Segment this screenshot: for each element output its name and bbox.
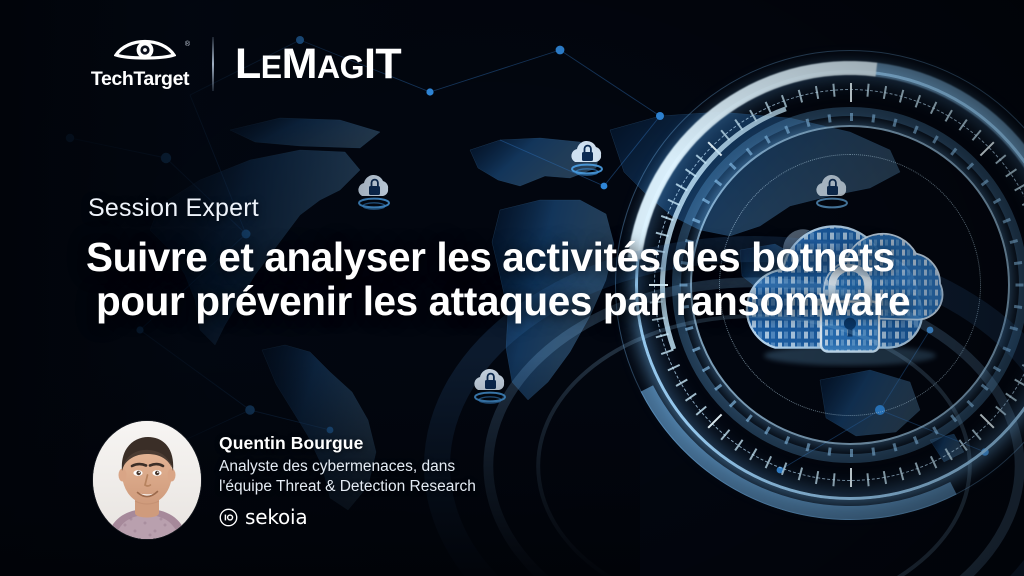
title-line-1: Suivre et analyser les activités des bot… [86,234,895,280]
speaker-name: Quentin Bourgue [219,433,476,454]
lemagit-letter-1: E [261,51,282,83]
title-line-2: pour prévenir les attaques par ransomwar… [86,280,986,324]
techtarget-wordmark: TechTarget [84,68,196,91]
lemagit-letter-5: I [364,43,375,86]
speaker-block: Quentin Bourgue Analyste des cybermenace… [93,421,476,539]
lemagit-letter-3: A [317,51,340,83]
speaker-role-line-2: l'équipe Threat & Detection Research [219,477,476,497]
session-kicker: Session Expert [88,194,259,223]
sekoia-logo: sekoia [219,505,476,529]
lemagit-letter-2: M [282,43,317,86]
io-circle-icon [219,508,238,527]
lemagit-logo: LEMAGIT [235,43,401,86]
speaker-role-line-1: Analyste des cybermenaces, dans [219,457,476,477]
lemagit-letter-6: T [375,43,401,86]
webinar-title-slide: ® TechTarget LEMAGIT Session Expert Suiv… [0,0,1024,576]
page-title: Suivre et analyser les activités des bot… [86,236,986,323]
registered-mark: ® [185,41,190,48]
avatar [93,421,201,539]
techtarget-logo: ® TechTarget [84,35,196,93]
sekoia-wordmark: sekoia [245,505,307,529]
speaker-role: Analyste des cybermenaces, dans l'équipe… [219,457,476,496]
eye-icon [114,35,176,61]
brand-logo-bar: ® TechTarget LEMAGIT [84,33,401,95]
lemagit-letter-4: G [340,51,364,83]
logo-divider [212,37,214,91]
lemagit-letter-0: L [235,43,261,86]
